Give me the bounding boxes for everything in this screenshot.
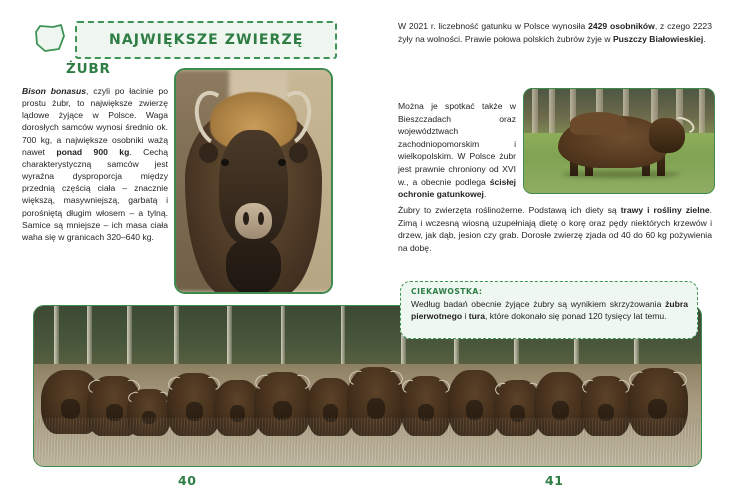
bison-head-portrait-photo xyxy=(174,68,333,294)
page-number-right: 41 xyxy=(545,473,563,488)
header-banner: NAJWIĘKSZE ZWIERZĘ xyxy=(33,21,333,57)
section-title-box: NAJWIĘKSZE ZWIERZĘ xyxy=(75,21,337,59)
bison-standing-photo xyxy=(523,88,715,194)
fact-box: CIEKAWOSTKA: Według badań obecnie żyjące… xyxy=(400,281,698,339)
fact-box-label: CIEKAWOSTKA: xyxy=(411,287,688,296)
book-spread: NAJWIĘKSZE ZWIERZĘ ŻUBR Bison bonasus, c… xyxy=(0,0,730,501)
poland-outline-icon xyxy=(33,23,67,54)
right-paragraph-1: W 2021 r. liczebność gatunku w Polsce wy… xyxy=(398,20,712,45)
right-paragraph-wrap: Można je spotkać także w Bieszczadach or… xyxy=(398,100,516,201)
page-number-left: 40 xyxy=(178,473,196,488)
right-paragraph-2: Żubry to zwierzęta roślinożerne. Podstaw… xyxy=(398,204,712,254)
subheading-zubr: ŻUBR xyxy=(66,61,111,77)
page-title: NAJWIĘKSZE ZWIERZĘ xyxy=(109,32,303,48)
fact-box-text: Według badań obecnie żyjące żubry są wyn… xyxy=(411,298,688,323)
left-body-text: Bison bonasus, czyli po łacinie po prost… xyxy=(22,85,168,243)
